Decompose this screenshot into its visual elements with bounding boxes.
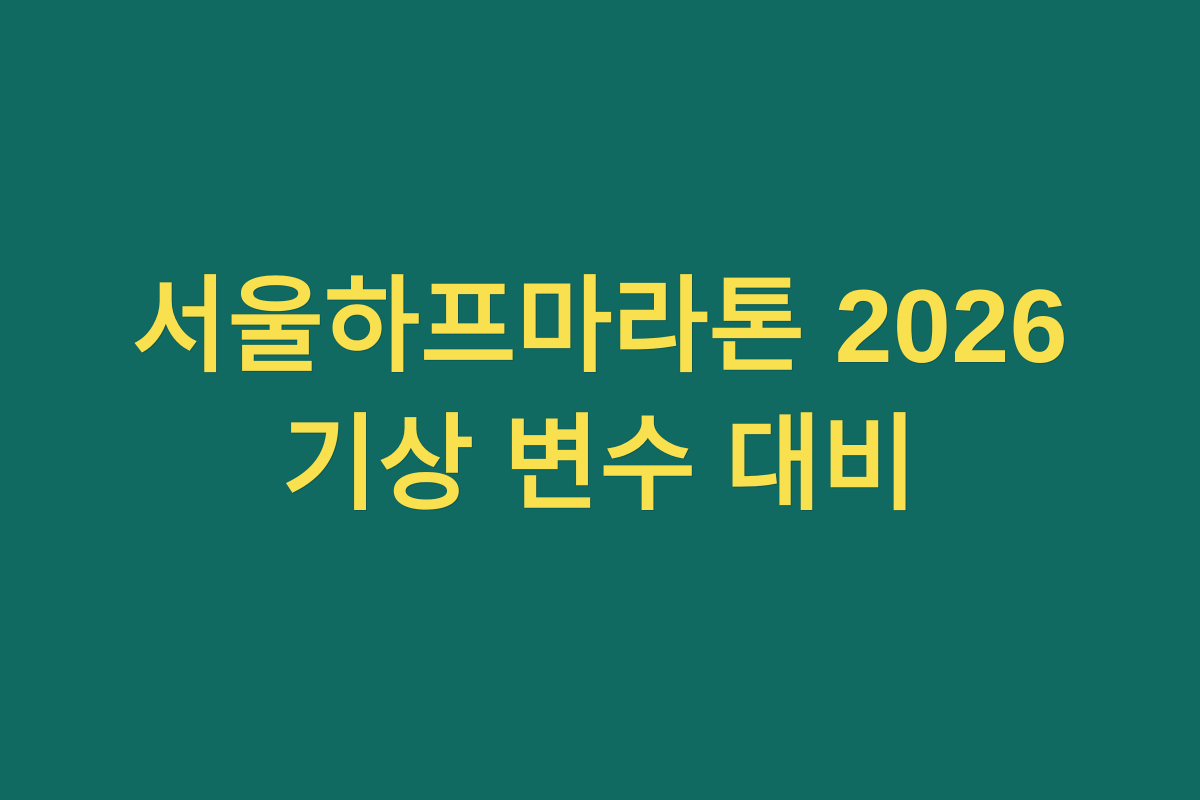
title-line-secondary: 기상 변수 대비 [282,413,918,517]
title-line-primary: 서울하프마라톤 2026 [132,275,1068,379]
banner-card: 서울하프마라톤 2026 기상 변수 대비 [0,0,1200,800]
page-title: 서울하프마라톤 2026 기상 변수 대비 [132,275,1068,517]
